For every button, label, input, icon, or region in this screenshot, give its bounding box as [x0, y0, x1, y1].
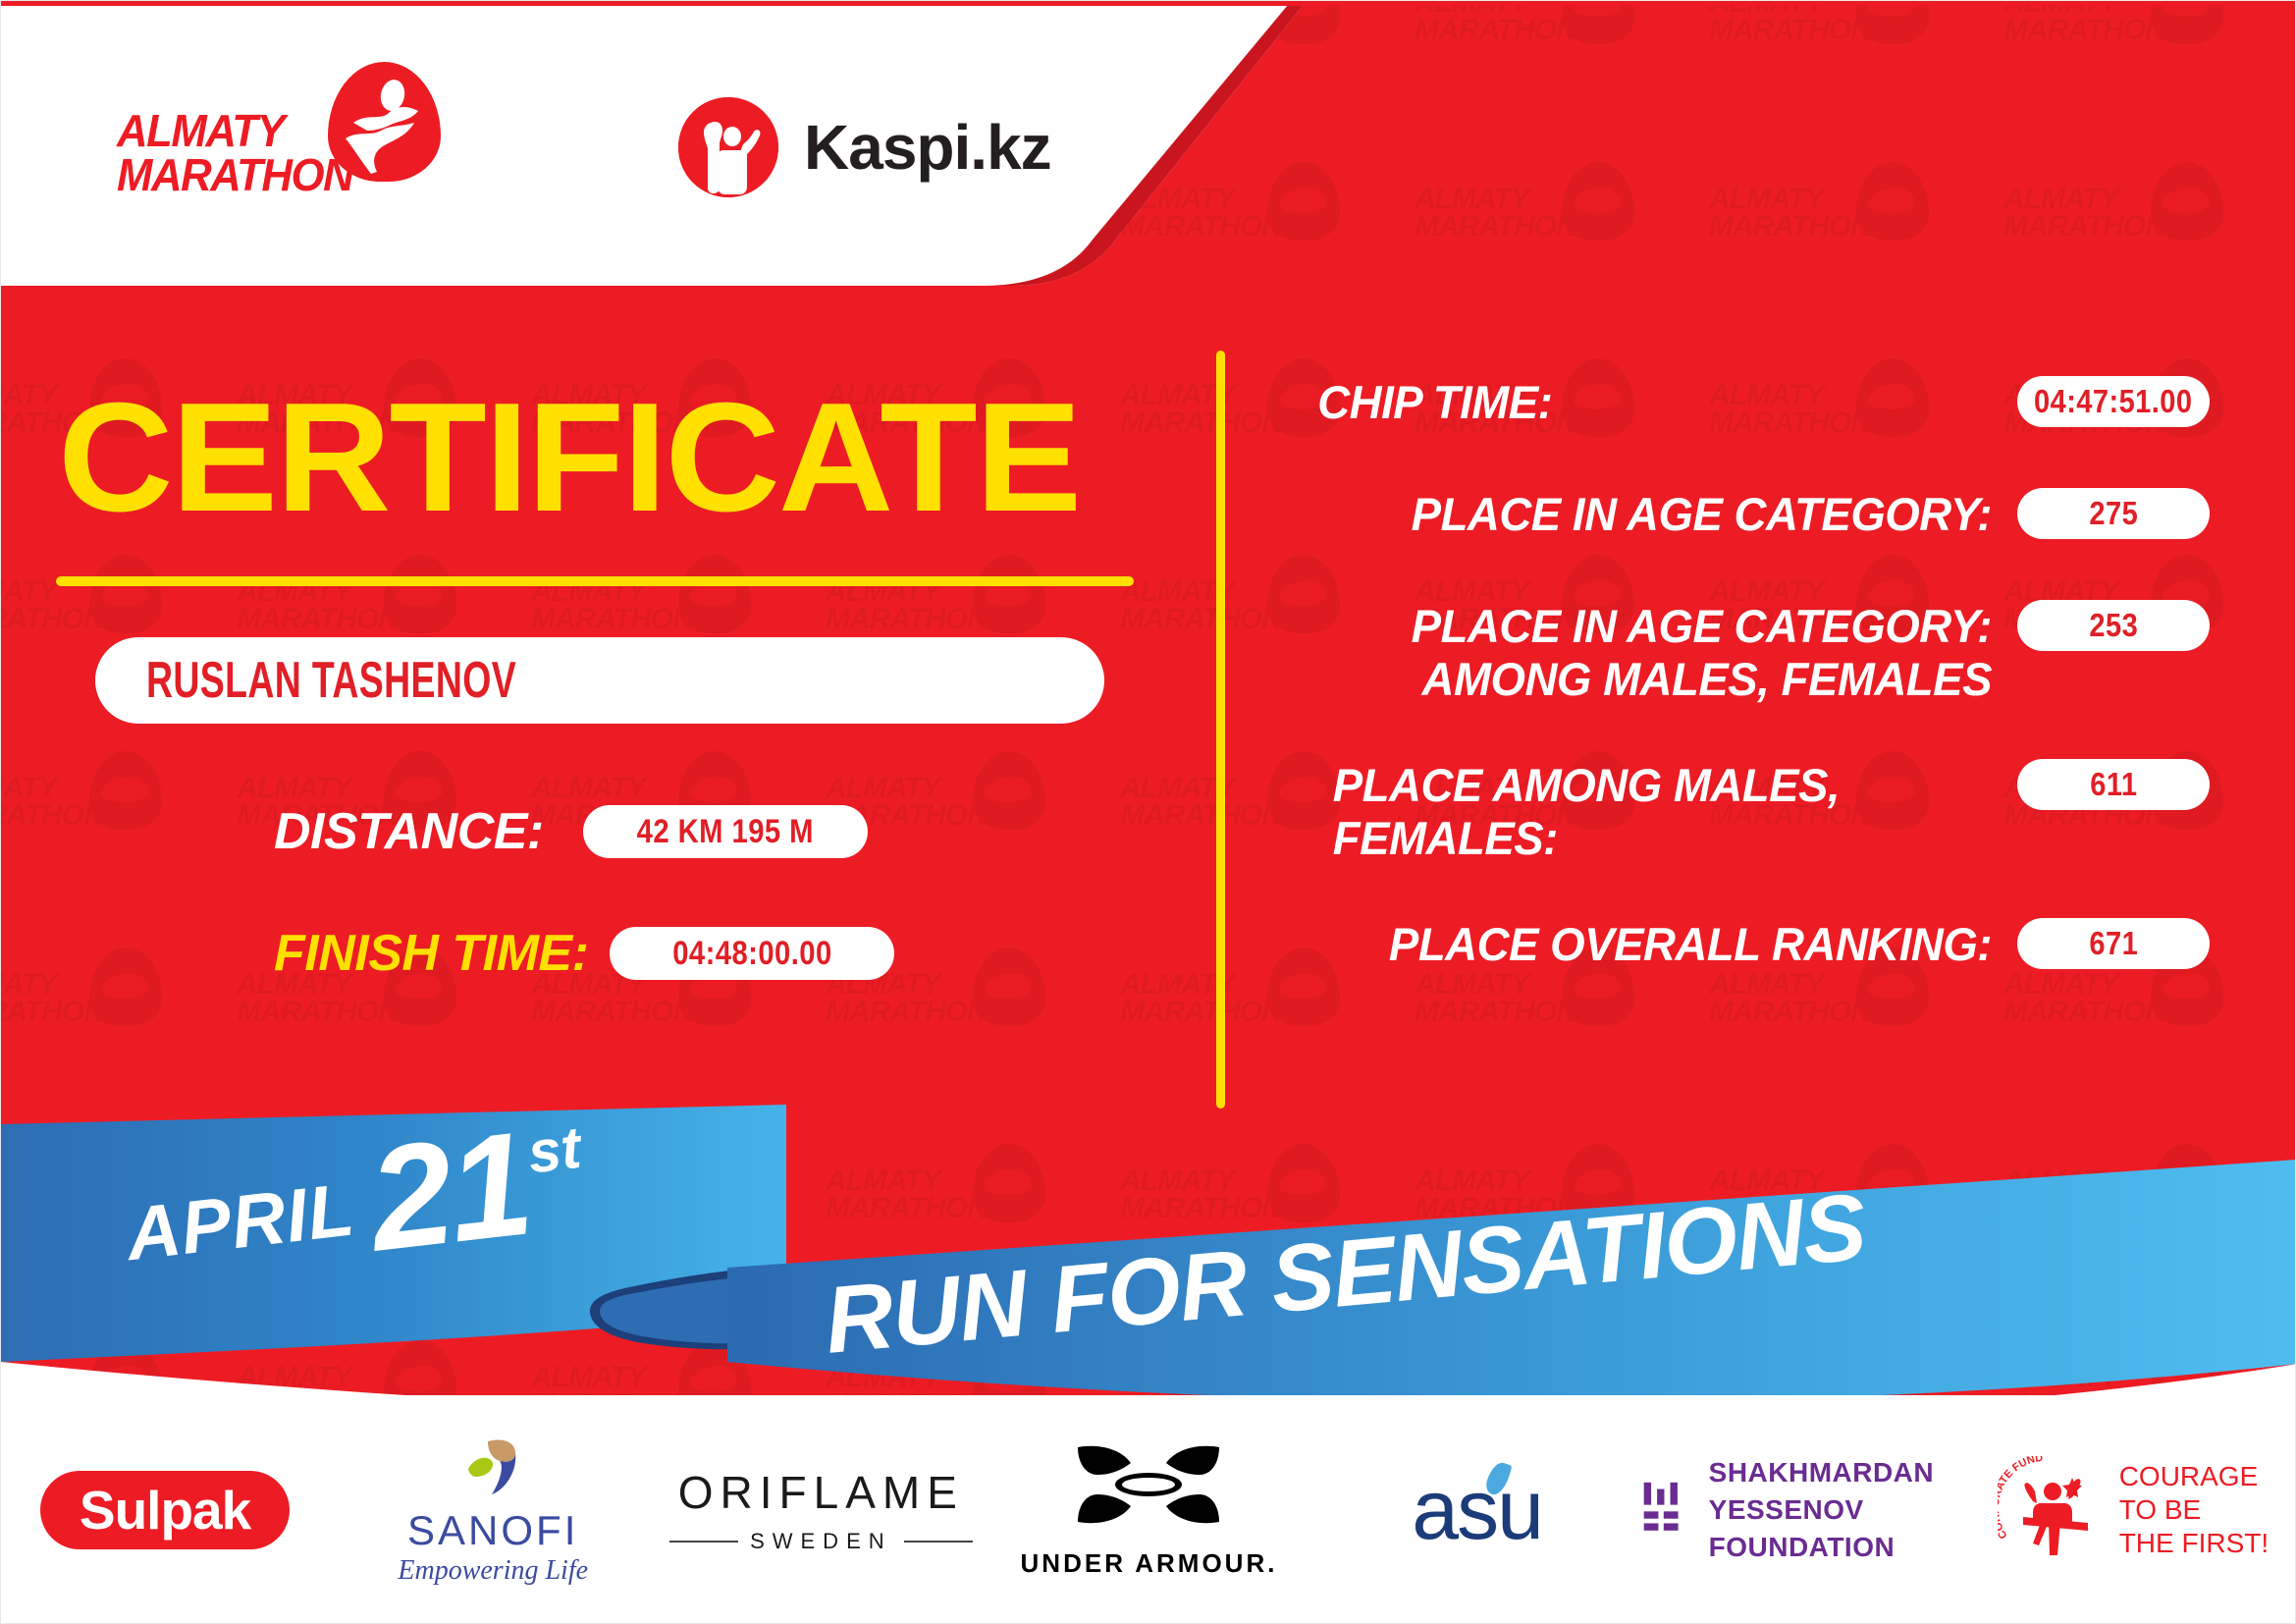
watermark-drop-icon — [384, 555, 456, 633]
oriflame-wordmark: ORIFLAME — [669, 1466, 973, 1519]
watermark-tile: ALMATYMARATHON — [1415, 1, 1640, 109]
watermark-drop-icon — [1562, 162, 1634, 241]
yessenov-logo: SHAKHMARDAN YESSENOV FOUNDATION — [1641, 1454, 1969, 1566]
courage-arc-text: CORPORATE FUND — [1998, 1456, 2044, 1541]
courage-fund-wordmark: COURAGE TO BE THE FIRST! — [2119, 1460, 2269, 1560]
sponsor-courage-fund: CORPORATE FUND COURAGE TO BE THE FIRST! — [1969, 1436, 2296, 1584]
event-day-suffix: st — [524, 1113, 584, 1187]
place-overall-label: PLACE OVERALL RANKING: — [1317, 918, 1992, 971]
place-overall-value: 671 — [2017, 918, 2210, 969]
finish-time-value: 04:48:00.00 — [610, 927, 894, 980]
watermark-text: ALMATYMARATHON — [826, 578, 988, 633]
watermark-drop-icon — [2151, 1, 2223, 44]
svg-text:CORPORATE FUND: CORPORATE FUND — [1998, 1456, 2044, 1541]
courage-line-3: THE FIRST! — [2119, 1527, 2269, 1560]
watermark-text: ALMATYMARATHON — [1120, 775, 1282, 830]
distance-row: DISTANCE: 42 KM 195 M — [274, 802, 868, 861]
chip-time-label: CHIP TIME: — [1317, 376, 1992, 429]
marathon-line: MARATHON — [117, 153, 352, 197]
watermark-tile: ALMATYMARATHON — [2003, 1, 2229, 109]
watermark-text: ALMATYMARATHON — [1120, 578, 1282, 633]
almaty-marathon-logo: ALMATY MARATHON — [117, 62, 441, 204]
finish-time-row: FINISH TIME: 04:48:00.00 — [274, 924, 894, 983]
watermark-text: ALMATYMARATHON — [1709, 186, 1871, 241]
watermark-text: ALMATYMARATHON — [2003, 186, 2165, 241]
top-accent-line — [1, 1, 2296, 6]
athlete-name-value: RUSLAN TASHENOV — [146, 651, 516, 710]
watermark-text: ALMATYMARATHON — [1415, 971, 1576, 1026]
oriflame-sub: SWEDEN — [669, 1529, 973, 1554]
sponsor-asu: asu — [1313, 1436, 1641, 1584]
yessenov-bars-icon — [1641, 1463, 1683, 1557]
watermark-text: ALMATYMARATHON — [1, 971, 104, 1026]
yessenov-line-1: SHAKHMARDAN YESSENOV — [1709, 1454, 1969, 1529]
title-underline — [56, 576, 1134, 586]
watermark-drop-icon — [1562, 1, 1634, 44]
watermark-drop-icon — [2151, 162, 2223, 241]
kaspi-family-icon — [678, 97, 778, 197]
courage-fund-logo: CORPORATE FUND COURAGE TO BE THE FIRST! — [1998, 1456, 2269, 1564]
asu-logo: asu — [1412, 1468, 1542, 1552]
sanofi-logo: SANOFI Empowering Life — [398, 1435, 588, 1585]
sponsor-sulpak: Sulpak — [1, 1436, 329, 1584]
distance-label: DISTANCE: — [274, 802, 544, 861]
finish-time-label: FINISH TIME: — [274, 924, 588, 983]
place-age-category-label: PLACE IN AGE CATEGORY: — [1317, 488, 1992, 541]
watermark-text: ALMATYMARATHON — [1, 578, 104, 633]
courage-fund-icon: CORPORATE FUND — [1998, 1456, 2106, 1564]
watermark-drop-icon — [973, 947, 1045, 1026]
oriflame-country: SWEDEN — [750, 1529, 892, 1554]
oriflame-logo: ORIFLAME SWEDEN — [669, 1466, 973, 1554]
under-armour-logo: UNDER ARMOUR. — [1021, 1441, 1278, 1579]
label-line-1: PLACE IN AGE CATEGORY: — [1317, 600, 1992, 653]
certificate-canvas: ALMATYMARATHONALMATYMARATHONALMATYMARATH… — [0, 0, 2296, 1624]
watermark-tile: ALMATYMARATHON — [1709, 158, 1935, 305]
watermark-tile: ALMATYMARATHON — [1, 944, 168, 1091]
asu-wordmark: asu — [1412, 1468, 1542, 1552]
watermark-text: ALMATYMARATHON — [1415, 1, 1576, 44]
place-among-gender-value: 611 — [2017, 759, 2210, 810]
watermark-text: ALMATYMARATHON — [1120, 971, 1282, 1026]
under-armour-icon — [1070, 1441, 1227, 1536]
sanofi-wordmark: SANOFI — [398, 1510, 588, 1551]
watermark-drop-icon — [1856, 162, 1929, 241]
stats-list: CHIP TIME: 04:47:51.00 PLACE IN AGE CATE… — [1297, 376, 2210, 971]
rule-left — [669, 1541, 738, 1543]
watermark-drop-icon — [678, 555, 751, 633]
watermark-tile: ALMATYMARATHON — [1709, 1, 1935, 109]
watermark-text: ALMATYMARATHON — [237, 578, 399, 633]
watermark-drop-icon — [1856, 1, 1929, 44]
watermark-text: ALMATYMARATHON — [1, 775, 104, 830]
watermark-tile: ALMATYMARATHON — [1, 747, 168, 894]
place-age-category-gender-value: 253 — [2017, 600, 2210, 651]
place-age-category-value: 275 — [2017, 488, 2210, 539]
distance-value: 42 KM 195 M — [583, 805, 868, 858]
stat-row-chip-time: CHIP TIME: 04:47:51.00 — [1297, 376, 2210, 429]
stat-row-place-among-gender: PLACE AMONG MALES, FEMALES: 611 — [1297, 759, 2210, 865]
watermark-text: ALMATYMARATHON — [1415, 186, 1576, 241]
under-armour-wordmark: UNDER ARMOUR. — [1021, 1548, 1278, 1579]
stat-row-place-age-category-gender: PLACE IN AGE CATEGORY: AMONG MALES, FEMA… — [1297, 600, 2210, 706]
label-line-1: PLACE AMONG MALES, — [1333, 759, 1992, 812]
watermark-drop-icon — [973, 751, 1045, 830]
athlete-name-field: RUSLAN TASHENOV — [95, 637, 1104, 724]
stat-row-place-age-category: PLACE IN AGE CATEGORY: 275 — [1297, 488, 2210, 541]
sponsor-bar: Sulpak SANOFI Empowering Life ORIFLAME — [1, 1395, 2296, 1624]
courage-line-2: TO BE — [2119, 1493, 2269, 1527]
page-title: CERTIFICATE — [58, 384, 1080, 531]
watermark-tile: ALMATYMARATHON — [1415, 158, 1640, 305]
watermark-text: ALMATYMARATHON — [1120, 382, 1282, 437]
sponsor-under-armour: UNDER ARMOUR. — [985, 1436, 1312, 1584]
label-line-2: FEMALES: — [1333, 812, 1992, 865]
watermark-text: ALMATYMARATHON — [2003, 971, 2165, 1026]
yessenov-wordmark: SHAKHMARDAN YESSENOV FOUNDATION — [1709, 1454, 1969, 1566]
kaspi-wordmark: Kaspi.kz — [804, 111, 1051, 184]
watermark-text: ALMATYMARATHON — [2003, 1, 2165, 44]
sanofi-mark-icon — [458, 1435, 527, 1504]
rule-right — [904, 1541, 973, 1543]
place-age-category-gender-label: PLACE IN AGE CATEGORY: AMONG MALES, FEMA… — [1317, 600, 1992, 706]
courage-line-1: COURAGE — [2119, 1460, 2269, 1493]
kaspi-logo: Kaspi.kz — [678, 97, 1051, 197]
watermark-text: ALMATYMARATHON — [531, 578, 693, 633]
place-among-gender-label: PLACE AMONG MALES, FEMALES: — [1317, 759, 1992, 865]
yessenov-line-2: FOUNDATION — [1709, 1529, 1969, 1566]
event-month: APRIL — [122, 1166, 358, 1277]
label-line-2: AMONG MALES, FEMALES — [1317, 653, 1992, 706]
watermark-text: ALMATYMARATHON — [1709, 971, 1871, 1026]
event-day: 21 — [363, 1118, 535, 1263]
watermark-tile: ALMATYMARATHON — [2003, 158, 2229, 305]
sanofi-tagline: Empowering Life — [398, 1557, 588, 1585]
sponsor-yessenov-foundation: SHAKHMARDAN YESSENOV FOUNDATION — [1641, 1436, 1969, 1584]
sulpak-logo: Sulpak — [40, 1471, 290, 1549]
chip-time-value: 04:47:51.00 — [2017, 376, 2210, 427]
sponsor-oriflame: ORIFLAME SWEDEN — [657, 1436, 985, 1584]
watermark-text: ALMATYMARATHON — [1709, 1, 1871, 44]
watermark-drop-icon — [89, 947, 162, 1026]
almaty-line: ALMATY — [117, 109, 352, 153]
column-divider — [1216, 351, 1225, 1109]
stat-row-place-overall: PLACE OVERALL RANKING: 671 — [1297, 918, 2210, 971]
watermark-drop-icon — [973, 555, 1045, 633]
watermark-drop-icon — [89, 751, 162, 830]
sponsor-sanofi: SANOFI Empowering Life — [329, 1436, 657, 1584]
watermark-drop-icon — [89, 555, 162, 633]
almaty-marathon-wordmark: ALMATY MARATHON — [117, 109, 352, 197]
